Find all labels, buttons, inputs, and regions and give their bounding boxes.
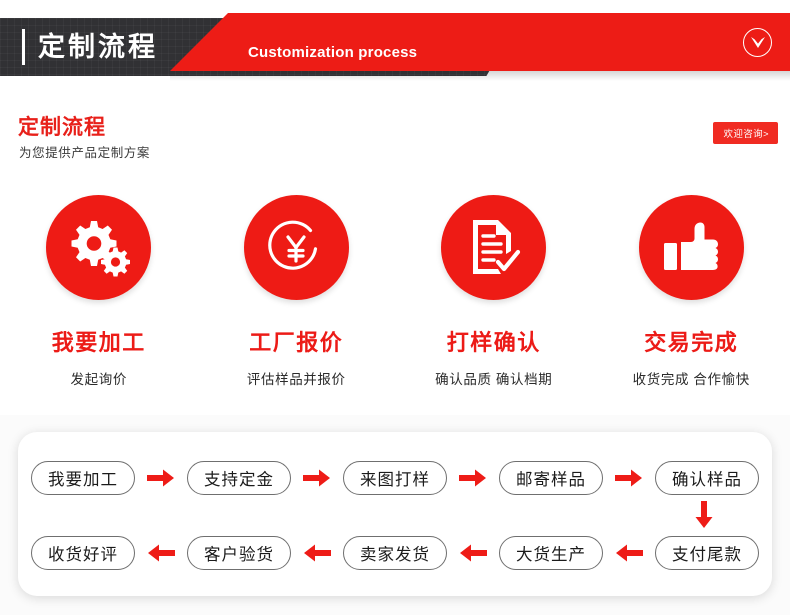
- chevron-down-glyph: [750, 36, 766, 50]
- step-desc: 确认品质 确认档期: [435, 368, 552, 388]
- page-root: 定制流程 Customization process 定制流程 为您提供产品定制…: [0, 0, 790, 615]
- flow-step-pill[interactable]: 邮寄样品: [499, 461, 603, 495]
- arrow-right-icon: [291, 469, 343, 487]
- arrow-left-icon: [135, 544, 187, 562]
- flow-step-pill[interactable]: 支付尾款: [655, 536, 759, 570]
- arrow-right-icon: [447, 469, 499, 487]
- inquiry-badge[interactable]: 欢迎咨询>: [713, 122, 778, 144]
- flow-step-pill[interactable]: 卖家发货: [343, 536, 447, 570]
- banner-title-cn: 定制流程: [38, 27, 158, 67]
- section-banner: 定制流程 Customization process: [0, 0, 790, 92]
- arrow-left-icon: [603, 544, 655, 562]
- step-icon-circle: [441, 195, 546, 300]
- banner-red-block: [170, 13, 790, 71]
- step-desc: 评估样品并报价: [247, 368, 346, 388]
- step-icon-circle: [639, 195, 744, 300]
- step-title: 交易完成: [644, 325, 738, 357]
- flow-step-pill[interactable]: 确认样品: [655, 461, 759, 495]
- flow-panel: 我要加工 支持定金 来图打样 邮寄样品 确认样品 收货好评: [18, 432, 772, 596]
- flow-row-bottom: 收货好评 客户验货 卖家发货 大货生产 支付尾款: [18, 533, 772, 573]
- step-title: 我要加工: [52, 325, 146, 357]
- arrow-right-icon: [603, 469, 655, 487]
- flow-row-top: 我要加工 支持定金 来图打样 邮寄样品 确认样品: [18, 458, 772, 498]
- arrow-down-icon: [689, 500, 719, 530]
- flow-step-pill[interactable]: 支持定金: [187, 461, 291, 495]
- step-desc: 收货完成 合作愉快: [633, 368, 750, 388]
- step-title: 工厂报价: [249, 325, 343, 357]
- flow-step-pill[interactable]: 大货生产: [499, 536, 603, 570]
- document-check-icon: [465, 217, 523, 279]
- flow-step-pill[interactable]: 来图打样: [343, 461, 447, 495]
- step-icon-circle: [46, 195, 151, 300]
- banner-title-en: Customization process: [248, 44, 417, 61]
- yuan-currency-icon: [265, 217, 327, 279]
- step-item: 交易完成 收货完成 合作愉快: [593, 195, 790, 395]
- step-title: 打样确认: [447, 325, 541, 357]
- banner-accent-bar: [22, 29, 25, 65]
- arrow-left-icon: [447, 544, 499, 562]
- step-item: 工厂报价 评估样品并报价: [198, 195, 396, 395]
- step-item: 我要加工 发起询价: [0, 195, 198, 395]
- steps-row: 我要加工 发起询价 工厂报价 评估样品并报价: [0, 195, 790, 395]
- page-title: 定制流程: [18, 111, 106, 141]
- step-item: 打样确认 确认品质 确认档期: [395, 195, 593, 395]
- flow-step-pill[interactable]: 客户验货: [187, 536, 291, 570]
- step-icon-circle: [244, 195, 349, 300]
- flow-step-pill[interactable]: 收货好评: [31, 536, 135, 570]
- page-subtitle: 为您提供产品定制方案: [19, 142, 150, 161]
- thumbs-up-icon: [660, 219, 722, 277]
- chevron-down-icon[interactable]: [743, 28, 772, 57]
- arrow-right-icon: [135, 469, 187, 487]
- step-desc: 发起询价: [71, 368, 127, 388]
- arrow-left-icon: [291, 544, 343, 562]
- flow-step-pill[interactable]: 我要加工: [31, 461, 135, 495]
- gears-icon: [68, 219, 130, 277]
